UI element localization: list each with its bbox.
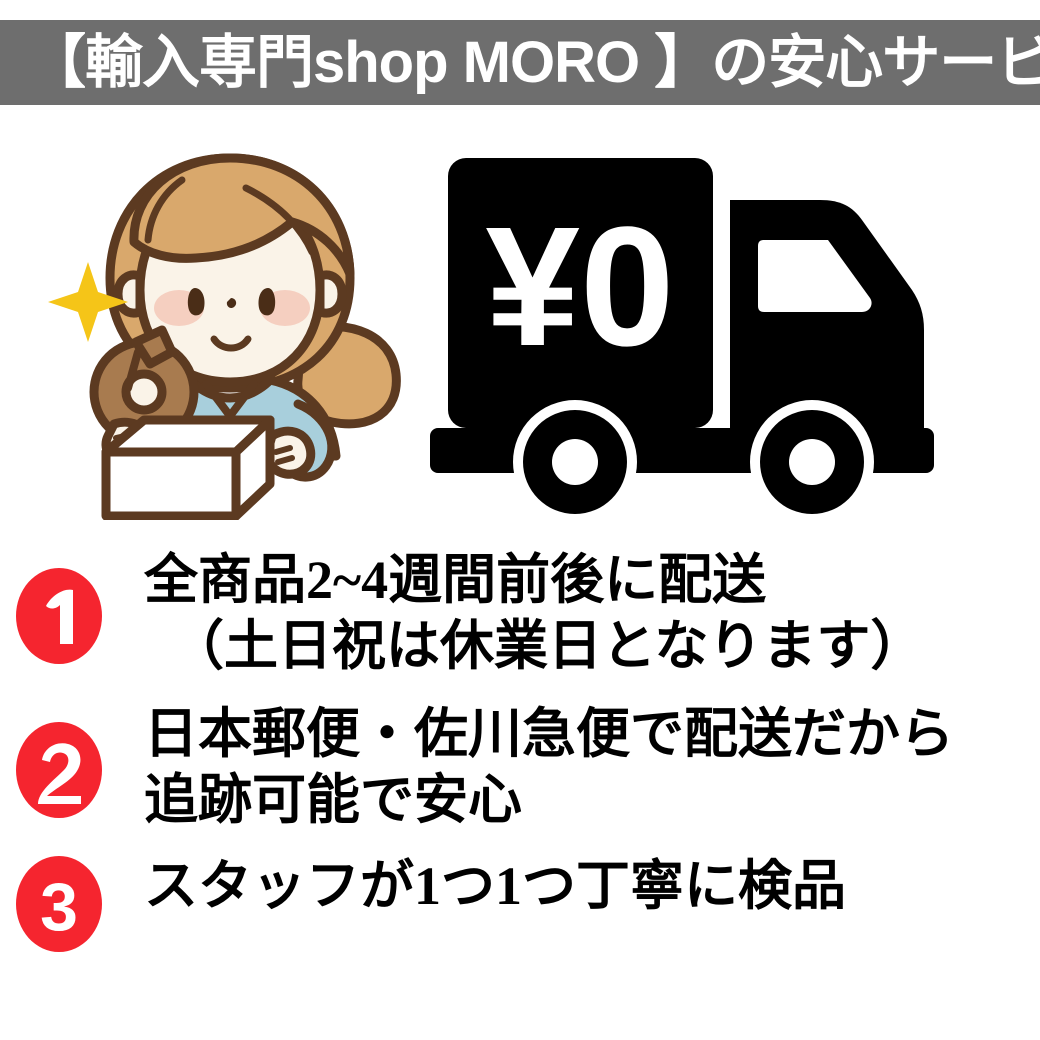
benefit-text-3: スタッフが1つ1つ丁寧に検品 (102, 848, 1040, 920)
benefit-badge-1 (16, 568, 102, 664)
hero-illustration-area: ¥0 (0, 110, 1040, 540)
benefit-item-2: 日本郵便・佐川急便で配送だから 追跡可能で安心 (0, 702, 1040, 834)
page-title: 【輸入専門shop MORO 】の安心サービス (0, 34, 1040, 92)
free-shipping-truck-icon: ¥0 (420, 140, 1000, 515)
benefit-list: 全商品2~4週間前後に配送 （土日祝は休業日となります） 日本郵便・佐川急便で配… (0, 548, 1040, 952)
truck-price-label: ¥0 (485, 192, 674, 382)
header-banner: 【輸入専門shop MORO 】の安心サービス (0, 20, 1040, 105)
benefit-line: 全商品2~4週間前後に配送 (144, 548, 1040, 614)
benefit-text-1: 全商品2~4週間前後に配送 （土日祝は休業日となります） (102, 548, 1040, 680)
benefit-text-2: 日本郵便・佐川急便で配送だから 追跡可能で安心 (102, 702, 1040, 834)
benefit-line: スタッフが1つ1つ丁寧に検品 (144, 854, 1040, 920)
benefit-badge-3: 3 (16, 856, 102, 952)
benefit-item-1: 全商品2~4週間前後に配送 （土日祝は休業日となります） (0, 548, 1040, 680)
benefit-line: （土日祝は休業日となります） (144, 614, 1040, 680)
benefit-item-3: 3 スタッフが1つ1つ丁寧に検品 (0, 848, 1040, 952)
benefit-line: 追跡可能で安心 (144, 768, 1040, 834)
benefit-badge-2 (16, 722, 102, 818)
woman-packing-box-illustration (40, 130, 420, 520)
benefit-line: 日本郵便・佐川急便で配送だから (144, 702, 1040, 768)
benefit-badge-3-number: 3 (40, 869, 78, 945)
